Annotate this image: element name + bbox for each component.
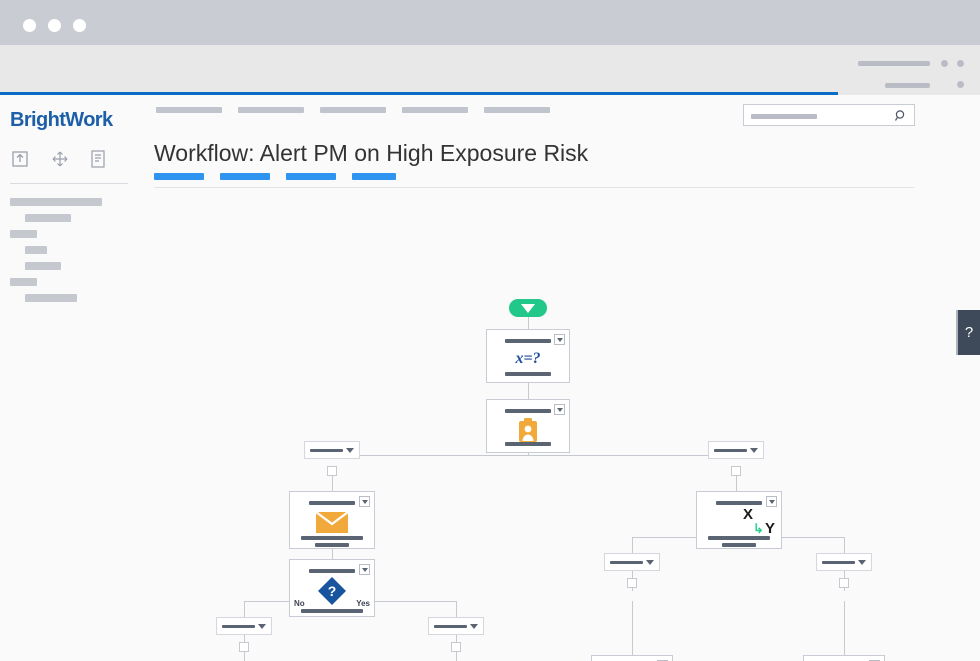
- node-detail-line-1: [708, 536, 770, 540]
- nav-item-1[interactable]: [156, 107, 222, 113]
- branch-label-no[interactable]: [216, 617, 272, 635]
- sidebar-item-3[interactable]: [10, 230, 37, 238]
- box-upload-node[interactable]: box: [803, 655, 885, 661]
- search-placeholder: [751, 114, 817, 119]
- maximize-button[interactable]: [73, 19, 86, 32]
- edge-n7-left: [632, 537, 633, 553]
- nav-item-4[interactable]: [402, 107, 468, 113]
- sidebar-item-2[interactable]: [25, 214, 71, 222]
- svg-text:?: ?: [328, 583, 337, 599]
- play-triangle-icon: [521, 304, 535, 313]
- branch-label-left[interactable]: [304, 441, 360, 459]
- sidebar-item-5[interactable]: [25, 262, 61, 270]
- sidebar-item-6[interactable]: [10, 278, 37, 286]
- edge-n7-right: [844, 537, 845, 553]
- chevron-down-icon[interactable]: [554, 334, 565, 345]
- browser-toolbar: [0, 45, 980, 95]
- sidebar-divider: [10, 183, 128, 184]
- send-email-node-2[interactable]: [591, 655, 673, 661]
- assign-task-node[interactable]: [486, 399, 570, 453]
- browser-tab-inactive-label[interactable]: [858, 61, 930, 66]
- edge-n2-split: [332, 455, 736, 456]
- edge-n3-n4: [332, 549, 333, 559]
- browser-menu-dot-2[interactable]: [957, 60, 964, 67]
- workflow-canvas[interactable]: x=?: [140, 195, 980, 661]
- label-bar: [610, 561, 643, 564]
- node-detail-line: [301, 609, 363, 613]
- arrow-icon: ↳: [753, 521, 764, 537]
- node-detail-line: [505, 442, 551, 446]
- label-bar: [434, 625, 467, 628]
- sidebar-item-7[interactable]: [25, 294, 77, 302]
- decision-node[interactable]: ? No Yes: [289, 559, 375, 617]
- label-bar: [714, 449, 747, 452]
- start-node[interactable]: [509, 299, 547, 317]
- chevron-down-icon[interactable]: [646, 560, 654, 565]
- branch-label-box[interactable]: [816, 553, 872, 571]
- junction-yes: [451, 642, 461, 652]
- edge-decision-no: [244, 601, 245, 617]
- header-divider: [154, 187, 914, 188]
- tab-1[interactable]: [154, 173, 204, 180]
- tab-4[interactable]: [352, 173, 396, 180]
- junction-left: [327, 466, 337, 476]
- node-title-bar: [309, 501, 355, 505]
- browser-menu-dot-1[interactable]: [941, 60, 948, 67]
- sidebar-toolbar: [10, 148, 128, 174]
- junction-email: [627, 578, 637, 588]
- chevron-down-icon[interactable]: [346, 448, 354, 453]
- nav-item-2[interactable]: [238, 107, 304, 113]
- node-title-bar: [716, 501, 762, 505]
- node-title-bar: [309, 569, 355, 573]
- app-window: BrightWork: [0, 0, 980, 661]
- chevron-down-icon[interactable]: [359, 564, 370, 575]
- decision-yes-label: Yes: [356, 599, 370, 608]
- tab-3[interactable]: [286, 173, 336, 180]
- branch-label-right[interactable]: [708, 441, 764, 459]
- branch-label-email[interactable]: [604, 553, 660, 571]
- page-tabs: [154, 173, 574, 181]
- send-email-node[interactable]: [289, 491, 375, 549]
- junction-no: [239, 642, 249, 652]
- brand-logo[interactable]: BrightWork: [10, 109, 113, 132]
- chevron-down-icon[interactable]: [750, 448, 758, 453]
- window-controls[interactable]: [23, 19, 86, 32]
- equation-icon: x=?: [515, 350, 540, 368]
- move-icon[interactable]: [49, 148, 69, 170]
- x-label: X: [743, 506, 753, 523]
- top-nav: [156, 107, 576, 115]
- junction-box: [839, 578, 849, 588]
- node-title-bar: [505, 409, 551, 413]
- diamond-question-icon: ?: [317, 576, 347, 611]
- envelope-icon: [315, 510, 349, 539]
- label-bar: [310, 449, 343, 452]
- chevron-down-icon[interactable]: [470, 624, 478, 629]
- node-detail-line-1: [301, 536, 363, 540]
- minimize-button[interactable]: [48, 19, 61, 32]
- page-title: Workflow: Alert PM on High Exposure Risk: [154, 140, 588, 167]
- chevron-down-icon[interactable]: [858, 560, 866, 565]
- edge-to-box: [844, 601, 845, 655]
- nav-item-3[interactable]: [320, 107, 386, 113]
- condition-node[interactable]: x=?: [486, 329, 570, 383]
- nav-item-5[interactable]: [484, 107, 550, 113]
- chevron-down-icon[interactable]: [766, 496, 777, 507]
- node-detail-line-2: [315, 543, 349, 547]
- node-detail-line: [505, 372, 551, 376]
- chevron-down-icon[interactable]: [359, 496, 370, 507]
- close-button[interactable]: [23, 19, 36, 32]
- label-bar: [222, 625, 255, 628]
- app-body: BrightWork: [0, 95, 980, 661]
- set-variable-node-right[interactable]: X ↳ Y: [696, 491, 782, 549]
- tab-2[interactable]: [220, 173, 270, 180]
- document-icon[interactable]: [88, 148, 108, 170]
- edge-to-email2: [632, 601, 633, 655]
- sidebar-item-1[interactable]: [10, 198, 102, 206]
- browser-url-bar[interactable]: [885, 83, 930, 88]
- sidebar: BrightWork: [0, 95, 140, 661]
- chevron-down-icon[interactable]: [258, 624, 266, 629]
- search-icon[interactable]: [894, 109, 908, 123]
- node-title-bar: [505, 339, 551, 343]
- search-input[interactable]: [743, 104, 915, 126]
- sidebar-item-4[interactable]: [25, 246, 47, 254]
- label-bar: [822, 561, 855, 564]
- edge-n1-n2: [528, 383, 529, 400]
- edge-decision-yes: [456, 601, 457, 617]
- export-icon[interactable]: [10, 148, 30, 170]
- node-detail-line-2: [722, 543, 756, 547]
- junction-right: [731, 466, 741, 476]
- y-label: Y: [765, 520, 775, 537]
- chevron-down-icon[interactable]: [554, 404, 565, 415]
- branch-label-yes[interactable]: [428, 617, 484, 635]
- window-titlebar: [0, 0, 980, 45]
- browser-action-dot[interactable]: [957, 81, 964, 88]
- edge-start-n1: [528, 316, 529, 330]
- decision-no-label: No: [294, 599, 305, 608]
- help-tab[interactable]: ?: [956, 310, 980, 355]
